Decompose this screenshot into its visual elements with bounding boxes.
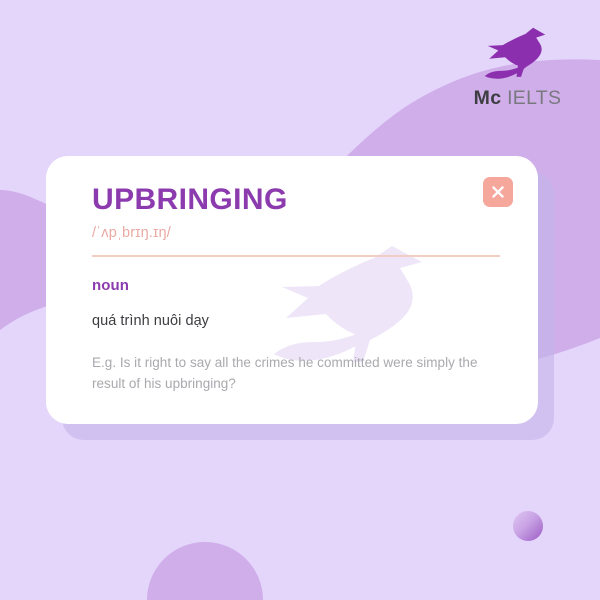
card-content: UPBRINGING /ˈʌpˌbrɪŋ.ɪŋ/ noun quá trình … xyxy=(46,156,538,395)
hummingbird-logo-icon xyxy=(480,24,556,86)
word-title: UPBRINGING xyxy=(92,184,498,216)
brand-wordmark-light: IELTS xyxy=(507,87,561,109)
phonetic-transcription: /ˈʌpˌbrɪŋ.ɪŋ/ xyxy=(92,225,498,241)
close-button[interactable] xyxy=(483,177,513,207)
accent-dot xyxy=(513,511,543,541)
close-icon xyxy=(491,185,505,199)
vocabulary-card-screen: Mc IELTS UPBRINGING /ˈʌpˌbrɪŋ.ɪŋ/ noun q… xyxy=(0,0,600,600)
part-of-speech-label: noun xyxy=(92,277,498,294)
example-sentence: E.g. Is it right to say all the crimes h… xyxy=(92,352,502,395)
brand-logo: Mc IELTS xyxy=(465,24,570,109)
brand-wordmark-bold: Mc xyxy=(474,87,502,109)
brand-wordmark: Mc IELTS xyxy=(474,89,562,109)
definition-card: UPBRINGING /ˈʌpˌbrɪŋ.ɪŋ/ noun quá trình … xyxy=(46,156,538,424)
definition-text: quá trình nuôi dạy xyxy=(92,313,498,329)
section-divider xyxy=(92,255,500,257)
